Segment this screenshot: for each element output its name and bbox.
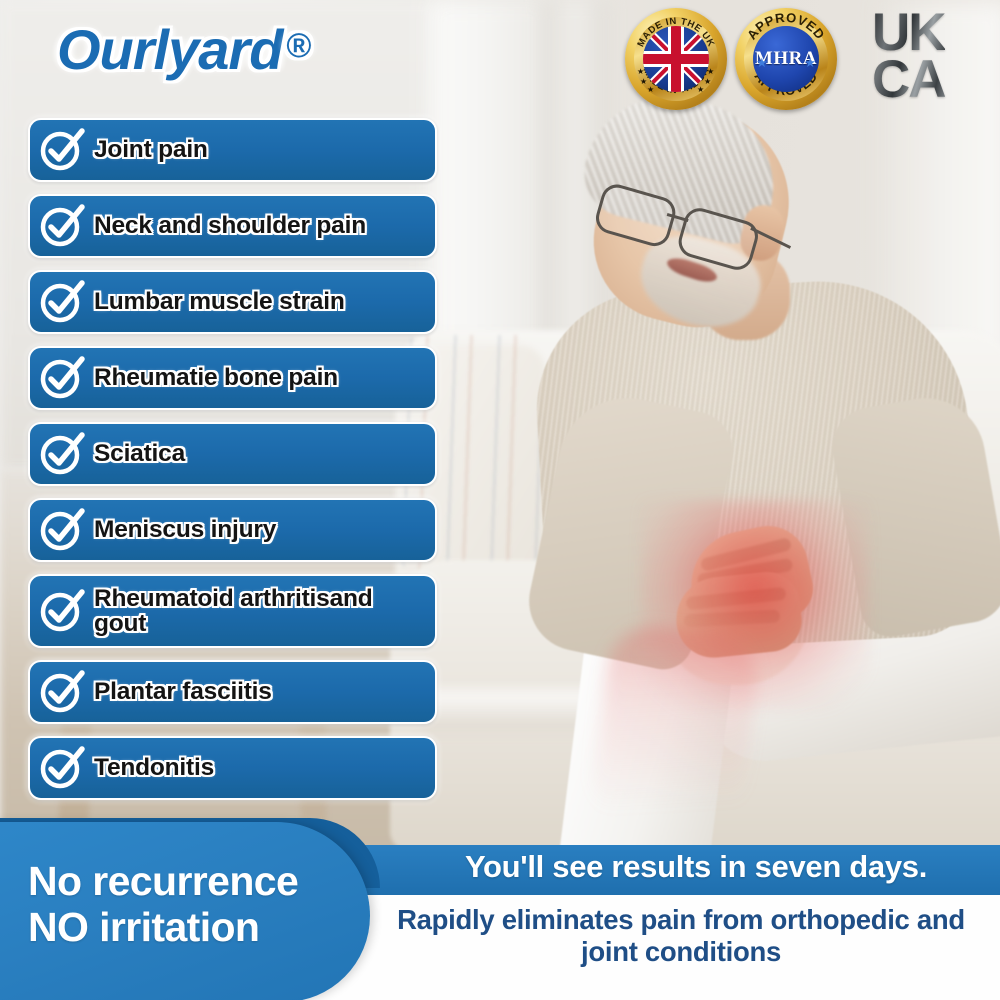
brand-logo: Ourlyard® [57, 22, 310, 78]
check-circle-icon [38, 279, 84, 325]
feature-pill[interactable]: Lumbar muscle strain [28, 270, 437, 334]
check-circle-icon [38, 588, 84, 634]
feature-label: Plantar fasciitis [94, 679, 272, 704]
feature-pill[interactable]: Rheumatie bone pain [28, 346, 437, 410]
feature-pill[interactable]: Sciatica [28, 422, 437, 486]
mhra-seal-icon: ★ MHRA ★ [753, 26, 819, 92]
check-circle-icon [38, 355, 84, 401]
footer-headline: No recurrence NO irritation [28, 858, 358, 951]
check-circle-icon [38, 507, 84, 553]
check-circle-icon [38, 669, 84, 715]
feature-label: Rheumatie bone pain [94, 365, 338, 390]
check-circle-icon [38, 203, 84, 249]
feature-pill[interactable]: Neck and shoulder pain [28, 194, 437, 258]
feature-label: Joint pain [94, 137, 208, 162]
footer-banner: No recurrence NO irritation You'll see r… [0, 840, 1000, 1000]
ukca-mark: UK CA [872, 10, 945, 103]
ukca-line-2: CA [872, 57, 945, 104]
feature-pill[interactable]: Joint pain [28, 118, 437, 182]
headline-line-1: No recurrence [28, 858, 358, 904]
feature-label: Neck and shoulder pain [94, 213, 366, 238]
feature-pill[interactable]: Rheumatoid arthritisand gout [28, 574, 437, 648]
product-advertisement: Ourlyard® MADE IN THE UK MADE IN THE UK … [0, 0, 1000, 1000]
union-jack-flag-icon [643, 26, 709, 92]
check-circle-icon [38, 127, 84, 173]
feature-label: Tendonitis [94, 755, 214, 780]
check-circle-icon [38, 431, 84, 477]
feature-label: Sciatica [94, 441, 185, 466]
feature-pill[interactable]: Tendonitis [28, 736, 437, 800]
feature-label: Meniscus injury [94, 517, 276, 542]
registered-trademark-icon: ® [286, 27, 310, 65]
check-circle-icon [38, 745, 84, 791]
footer-tagline: You'll see results in seven days. [400, 849, 992, 885]
mhra-approved-badge: APPROVED APPROVED ★ MHRA ★ [735, 8, 837, 110]
made-in-uk-badge: MADE IN THE UK MADE IN THE UK ★★ ★ ★★ ★ [625, 8, 727, 110]
feature-pill[interactable]: Plantar fasciitis [28, 660, 437, 724]
feature-list: Joint pain Neck and shoulder pain Lumbar… [28, 118, 438, 812]
certification-badges: MADE IN THE UK MADE IN THE UK ★★ ★ ★★ ★ [625, 8, 837, 110]
star-icon: ★ [756, 55, 768, 71]
brand-name: Ourlyard [57, 18, 282, 81]
footer-subline: Rapidly eliminates pain from orthopedic … [370, 904, 992, 969]
feature-pill[interactable]: Meniscus injury [28, 498, 437, 562]
feature-label: Rheumatoid arthritisand gout [94, 586, 425, 637]
knee-pain-trail [588, 622, 761, 839]
star-icon: ★ [804, 55, 816, 71]
headline-line-2: NO irritation [28, 904, 358, 950]
feature-label: Lumbar muscle strain [94, 289, 345, 314]
